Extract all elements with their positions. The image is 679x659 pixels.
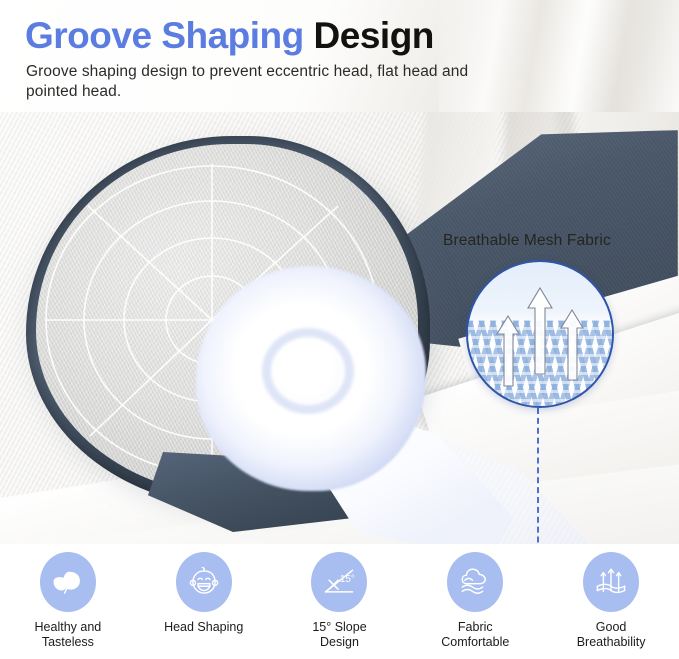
mesh-callout-label: Breathable Mesh Fabric [443,232,611,250]
baby-pillow [20,122,440,522]
feature-item-head-shaping[interactable]: Head Shaping [136,544,272,659]
callout-connector-line [537,408,539,544]
airflow-arrows-icon [468,262,614,408]
title-rest: Design [304,15,434,56]
baby-face-icon [176,552,232,612]
breathable-mesh-magnifier [466,260,614,408]
feature-label: 15° Slope Design [312,620,366,650]
angle-15-degree-icon: 15° [311,552,367,612]
feature-label: Healthy and Tasteless [35,620,102,650]
feature-item-healthy[interactable]: Healthy and Tasteless [0,544,136,659]
leaf-icon [40,552,96,612]
page-title: Groove Shaping Design [25,16,434,56]
page-subtitle: Groove shaping design to prevent eccentr… [26,62,496,102]
feature-label: Good Breathability [577,620,646,650]
feature-item-breathability[interactable]: Good Breathability [543,544,679,659]
feature-item-fabric[interactable]: Fabric Comfortable [407,544,543,659]
angle-badge-text: 15° [340,574,355,585]
breathability-arrows-icon [583,552,639,612]
header-section: Groove Shaping Design Groove shaping des… [0,0,679,112]
feature-item-slope[interactable]: 15° 15° Slope Design [272,544,408,659]
feature-label: Fabric Comfortable [441,620,509,650]
infographic-page: Groove Shaping Design Groove shaping des… [0,0,679,659]
product-photo: Breathable Mesh Fabric [0,112,679,544]
cloud-waves-icon [447,552,503,612]
title-highlight: Groove Shaping [25,15,304,56]
feature-row: Healthy and Tasteless Head Shaping [0,544,679,659]
feature-label: Head Shaping [164,620,243,635]
pillow-navy-base [148,452,398,532]
pillow-quilt-grid [36,144,418,496]
pillow-surface [36,144,418,496]
